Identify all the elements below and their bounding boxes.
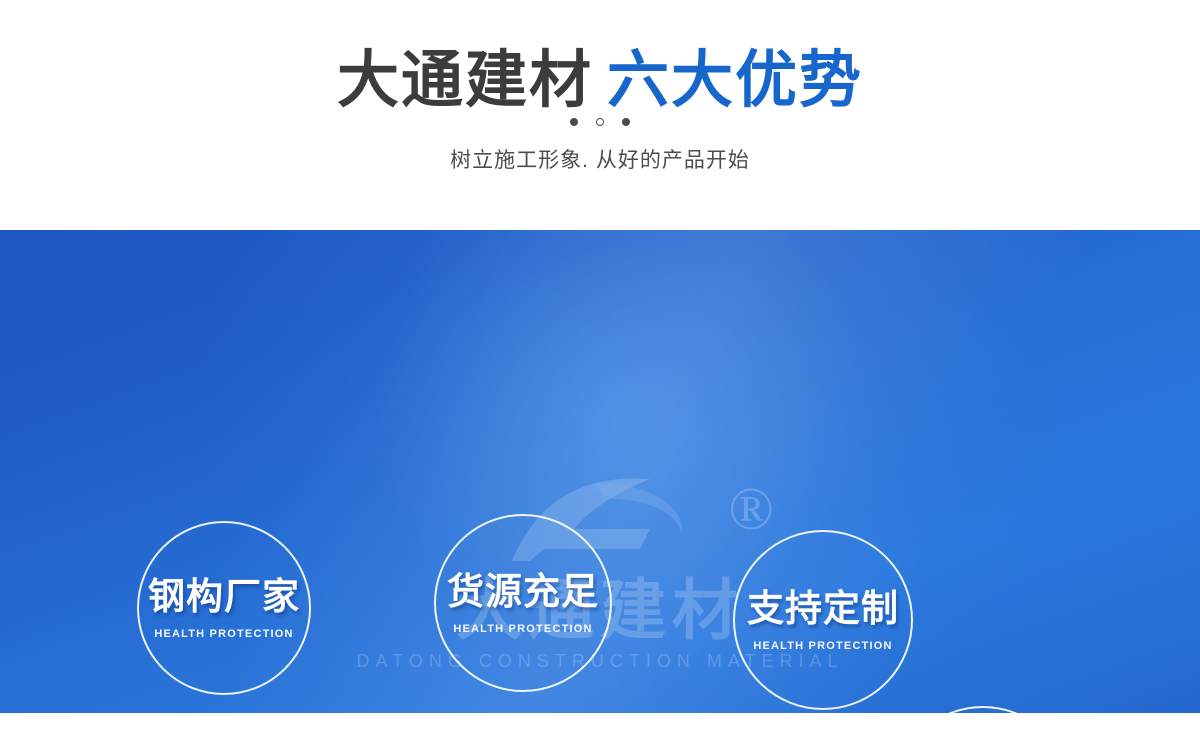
page-subtitle: 树立施工形象. 从好的产品开始: [0, 144, 1200, 174]
feature-title: 支持定制: [747, 588, 899, 630]
feature-circle-baking-finish[interactable]: 烤漆工艺 HEALTH PROTECTION: [893, 706, 1073, 713]
feature-title: 钢构厂家: [148, 576, 300, 618]
registered-mark-icon: ®: [728, 479, 774, 539]
feature-title: 货源充足: [447, 571, 599, 613]
page-title-highlight: 六大优势: [607, 46, 863, 115]
promo-banner: 大通建材六大优势 树立施工形象. 从好的产品开始 ® 大通建材 DATONG C…: [0, 0, 1200, 753]
footer-whitespace: [0, 713, 1200, 753]
feature-circle-customization[interactable]: 支持定制 HEALTH PROTECTION: [733, 530, 913, 710]
dot-filled-right: [622, 118, 630, 126]
feature-circle-ample-supply[interactable]: 货源充足 HEALTH PROTECTION: [434, 514, 612, 692]
dot-hollow-center: [596, 118, 604, 126]
feature-subtitle: HEALTH PROTECTION: [753, 640, 892, 652]
page-title-brand: 大通建材: [337, 46, 593, 115]
page-title: 大通建材六大优势: [0, 45, 1200, 117]
feature-subtitle: HEALTH PROTECTION: [453, 623, 592, 635]
feature-circle-steel-factory[interactable]: 钢构厂家 HEALTH PROTECTION: [137, 521, 311, 695]
features-panel: ® 大通建材 DATONG CONSTRUCTION MATERIAL 钢构厂家…: [0, 230, 1200, 713]
feature-subtitle: HEALTH PROTECTION: [154, 628, 293, 640]
header-section: 大通建材六大优势 树立施工形象. 从好的产品开始: [0, 0, 1200, 230]
divider-dots: [0, 118, 1200, 126]
dot-filled-left: [570, 118, 578, 126]
